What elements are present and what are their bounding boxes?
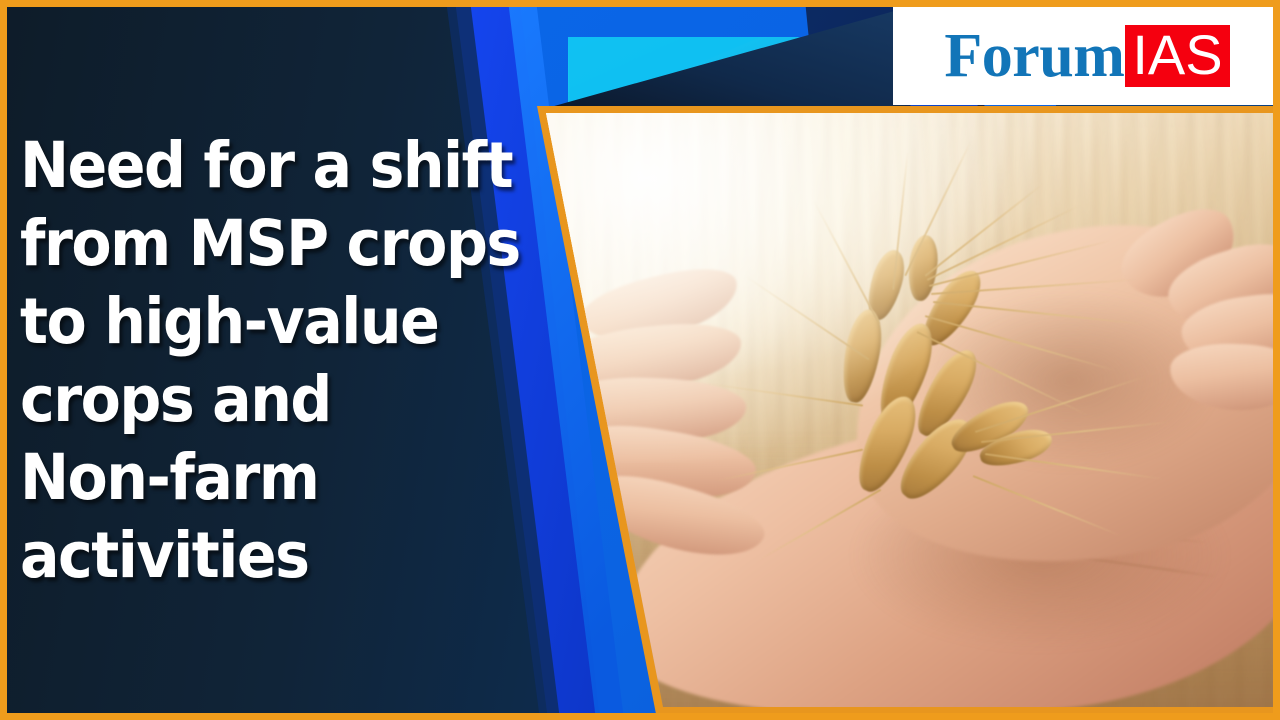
headline-line-1: Need for a shift	[20, 127, 522, 205]
logo-forum-text: Forum	[944, 25, 1124, 87]
logo-ias-badge: IAS	[1125, 25, 1229, 87]
thumbnail-canvas: Forum IAS Need for a shift from MSP crop…	[0, 0, 1280, 720]
headline-line-2: from MSP crops	[20, 205, 522, 283]
headline: Need for a shift from MSP crops to high-…	[20, 127, 560, 595]
wheat-ears	[805, 235, 1135, 535]
brand-logo-panel[interactable]: Forum IAS	[893, 7, 1273, 105]
headline-line-5: Non-farm	[20, 439, 522, 517]
headline-line-4: crops and	[20, 361, 522, 439]
brand-logo[interactable]: Forum IAS	[944, 25, 1229, 87]
headline-line-6: activities	[20, 517, 522, 595]
headline-line-3: to high-value	[20, 283, 522, 361]
